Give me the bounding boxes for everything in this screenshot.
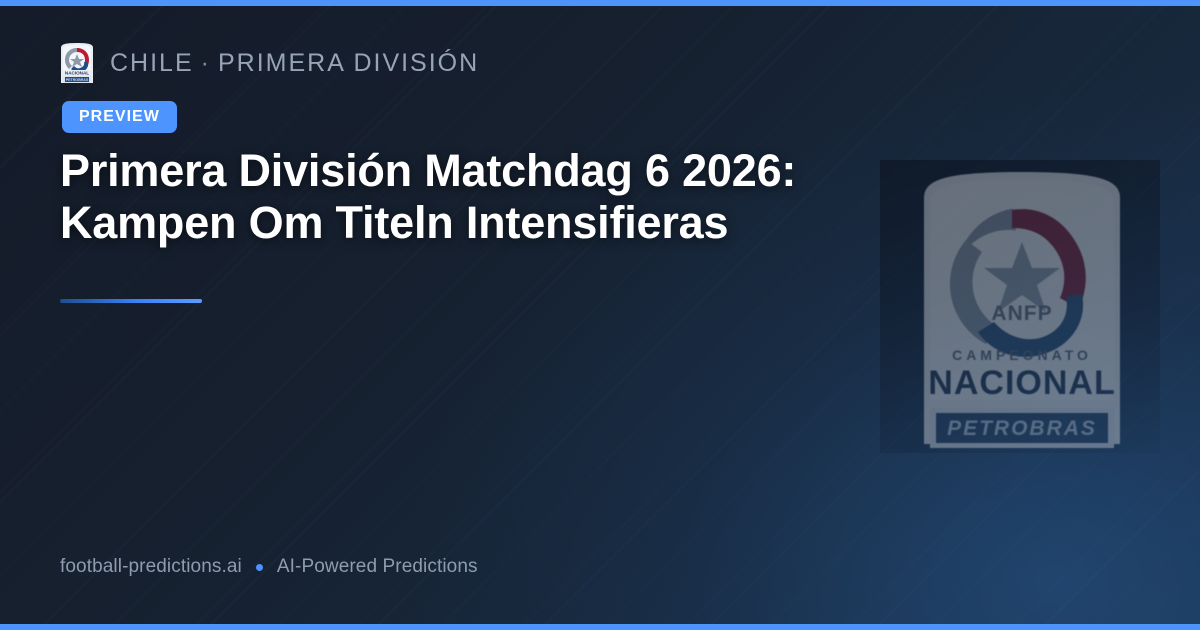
svg-text:CAMPEONATO: CAMPEONATO: [952, 347, 1092, 363]
page-title: Primera División Matchdag 6 2026: Kampen…: [60, 145, 960, 249]
competition-label: Primera División: [218, 49, 479, 77]
blue-dot-separator-icon: [256, 564, 263, 571]
anfp-campeonato-nacional-petrobras-badge-icon: NACIONAL PETROBRAS: [60, 42, 94, 84]
top-accent-bar: [0, 0, 1200, 6]
social-preview-card: ANFP CAMPEONATO NACIONAL PETROBRAS NACIO…: [0, 0, 1200, 630]
svg-text:NACIONAL: NACIONAL: [928, 364, 1115, 402]
breadcrumb-separator: ·: [194, 49, 218, 77]
bottom-accent-bar: [0, 624, 1200, 630]
svg-text:ANFP: ANFP: [991, 302, 1052, 325]
country-label: Chile: [110, 49, 194, 77]
svg-text:NACIONAL: NACIONAL: [65, 70, 89, 75]
svg-text:PETROBRAS: PETROBRAS: [947, 417, 1097, 440]
league-header: NACIONAL PETROBRAS Chile·Primera Divisió…: [60, 42, 479, 84]
page-title-line-1: Primera División Matchdag 6 2026:: [60, 145, 796, 196]
footer: football-predictions.ai AI-Powered Predi…: [60, 556, 478, 578]
page-title-line-2: Kampen Om Titeln Intensifieras: [60, 197, 728, 248]
league-breadcrumb: Chile·Primera División: [110, 49, 479, 78]
footer-tagline: AI-Powered Predictions: [277, 556, 478, 578]
title-underline-divider: [60, 299, 202, 303]
status-badge-preview: PREVIEW: [62, 101, 177, 133]
footer-site-label: football-predictions.ai: [60, 556, 242, 578]
svg-text:PETROBRAS: PETROBRAS: [66, 78, 89, 82]
status-badge-label: PREVIEW: [79, 108, 160, 126]
